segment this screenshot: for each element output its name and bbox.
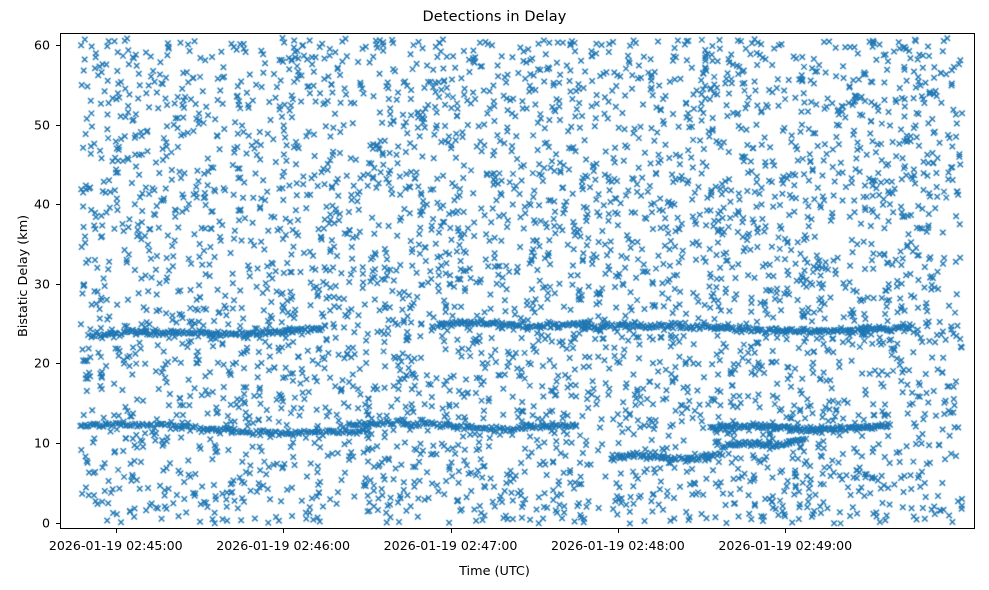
y-tick-mark	[56, 284, 60, 285]
y-tick-label: 10	[10, 436, 50, 451]
x-tick-mark	[451, 529, 452, 533]
y-tick-label: 20	[10, 356, 50, 371]
y-tick-mark	[56, 523, 60, 524]
y-tick-mark	[56, 363, 60, 364]
x-axis-label: Time (UTC)	[0, 564, 989, 579]
x-tick-mark	[116, 529, 117, 533]
scatter-points-layer	[61, 34, 975, 529]
x-tick-mark	[785, 529, 786, 533]
y-tick-label: 0	[10, 515, 50, 530]
x-tick-label: 2026-01-19 02:45:00	[49, 538, 183, 553]
y-tick-label: 50	[10, 117, 50, 132]
y-axis-label: Bistatic Delay (km)	[16, 215, 31, 337]
x-tick-label: 2026-01-19 02:48:00	[551, 538, 685, 553]
x-tick-mark	[283, 529, 284, 533]
y-tick-mark	[56, 125, 60, 126]
matplotlib-figure: Detections in Delay 0102030405060 2026-0…	[0, 0, 989, 590]
x-tick-label: 2026-01-19 02:46:00	[216, 538, 350, 553]
x-tick-label: 2026-01-19 02:49:00	[718, 538, 852, 553]
y-tick-label: 60	[10, 37, 50, 52]
chart-title: Detections in Delay	[0, 9, 989, 25]
plot-axes-area	[60, 33, 975, 529]
x-tick-mark	[618, 529, 619, 533]
x-tick-label: 2026-01-19 02:47:00	[384, 538, 518, 553]
y-tick-mark	[56, 45, 60, 46]
y-tick-mark	[56, 204, 60, 205]
y-tick-label: 40	[10, 197, 50, 212]
y-tick-mark	[56, 443, 60, 444]
